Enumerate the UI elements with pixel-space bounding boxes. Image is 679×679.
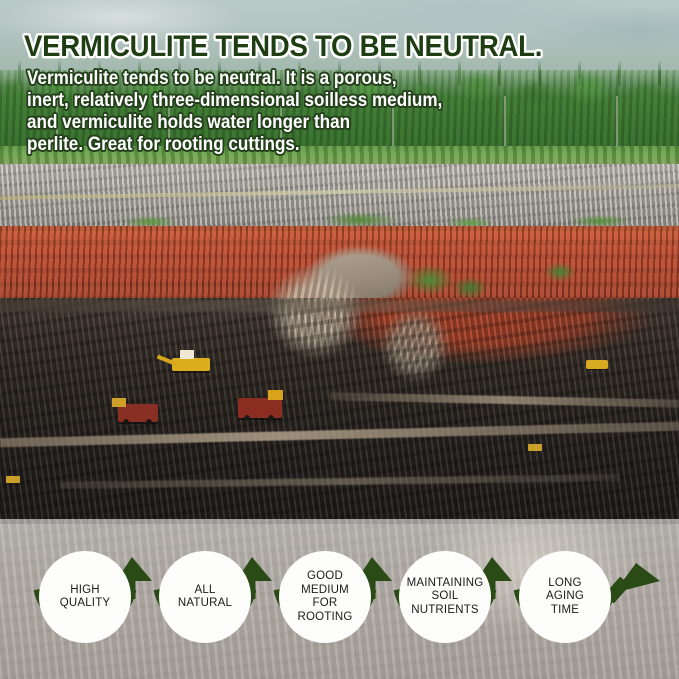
haul-truck-red-right (238, 398, 282, 418)
service-vehicle (528, 444, 542, 451)
description-line-2: inert, relatively three-dimensional soil… (27, 90, 495, 112)
flow-step-line: SOIL (407, 590, 484, 604)
flow-step-line: MEDIUM (297, 584, 352, 598)
description-line-4: perlite. Great for rooting cuttings. (27, 134, 495, 156)
flow-step-line: FOR (297, 597, 352, 611)
flow-step-all-natural[interactable]: ALL NATURAL (159, 551, 251, 643)
loader-vehicle (6, 476, 20, 483)
flow-step-maintaining-soil-nutrients[interactable]: MAINTAINING SOIL NUTRIENTS (399, 551, 491, 643)
page-title: VERMICULITE TENDS TO BE NEUTRAL. (24, 30, 542, 64)
pit-ledge (0, 300, 679, 312)
description-line-1: Vermiculite tends to be neutral. It is a… (27, 68, 495, 90)
process-flow: HIGH QUALITY ALL NATURAL GOOD MEDIUM FOR… (0, 519, 679, 679)
flow-step-long-aging-time[interactable]: LONG AGING TIME (519, 551, 611, 643)
flow-step-line: MAINTAINING (407, 577, 484, 591)
product-infographic: VERMICULITE TENDS TO BE NEUTRAL. Vermicu… (0, 0, 679, 679)
description-text: Vermiculite tends to be neutral. It is a… (27, 68, 495, 156)
flow-step-line: QUALITY (60, 597, 111, 611)
description-line-3: and vermiculite holds water longer than (27, 112, 495, 134)
flow-step-line: NUTRIENTS (407, 604, 484, 618)
flow-step-line: NATURAL (178, 597, 232, 611)
flow-step-line: TIME (546, 604, 584, 618)
bulldozer-yellow (586, 360, 608, 369)
haul-truck-red-left (118, 404, 158, 422)
excavator-yellow (172, 358, 210, 371)
flow-step-line: LONG (546, 577, 584, 591)
pit-texture (0, 298, 679, 524)
flow-step-line: HIGH (60, 584, 111, 598)
flow-step-good-medium-rooting[interactable]: GOOD MEDIUM FOR ROOTING (279, 551, 371, 643)
flow-step-line: ROOTING (297, 611, 352, 625)
flow-step-line: GOOD (297, 570, 352, 584)
flow-step-line: AGING (546, 590, 584, 604)
flow-step-high-quality[interactable]: HIGH QUALITY (39, 551, 131, 643)
flow-step-line: ALL (178, 584, 232, 598)
